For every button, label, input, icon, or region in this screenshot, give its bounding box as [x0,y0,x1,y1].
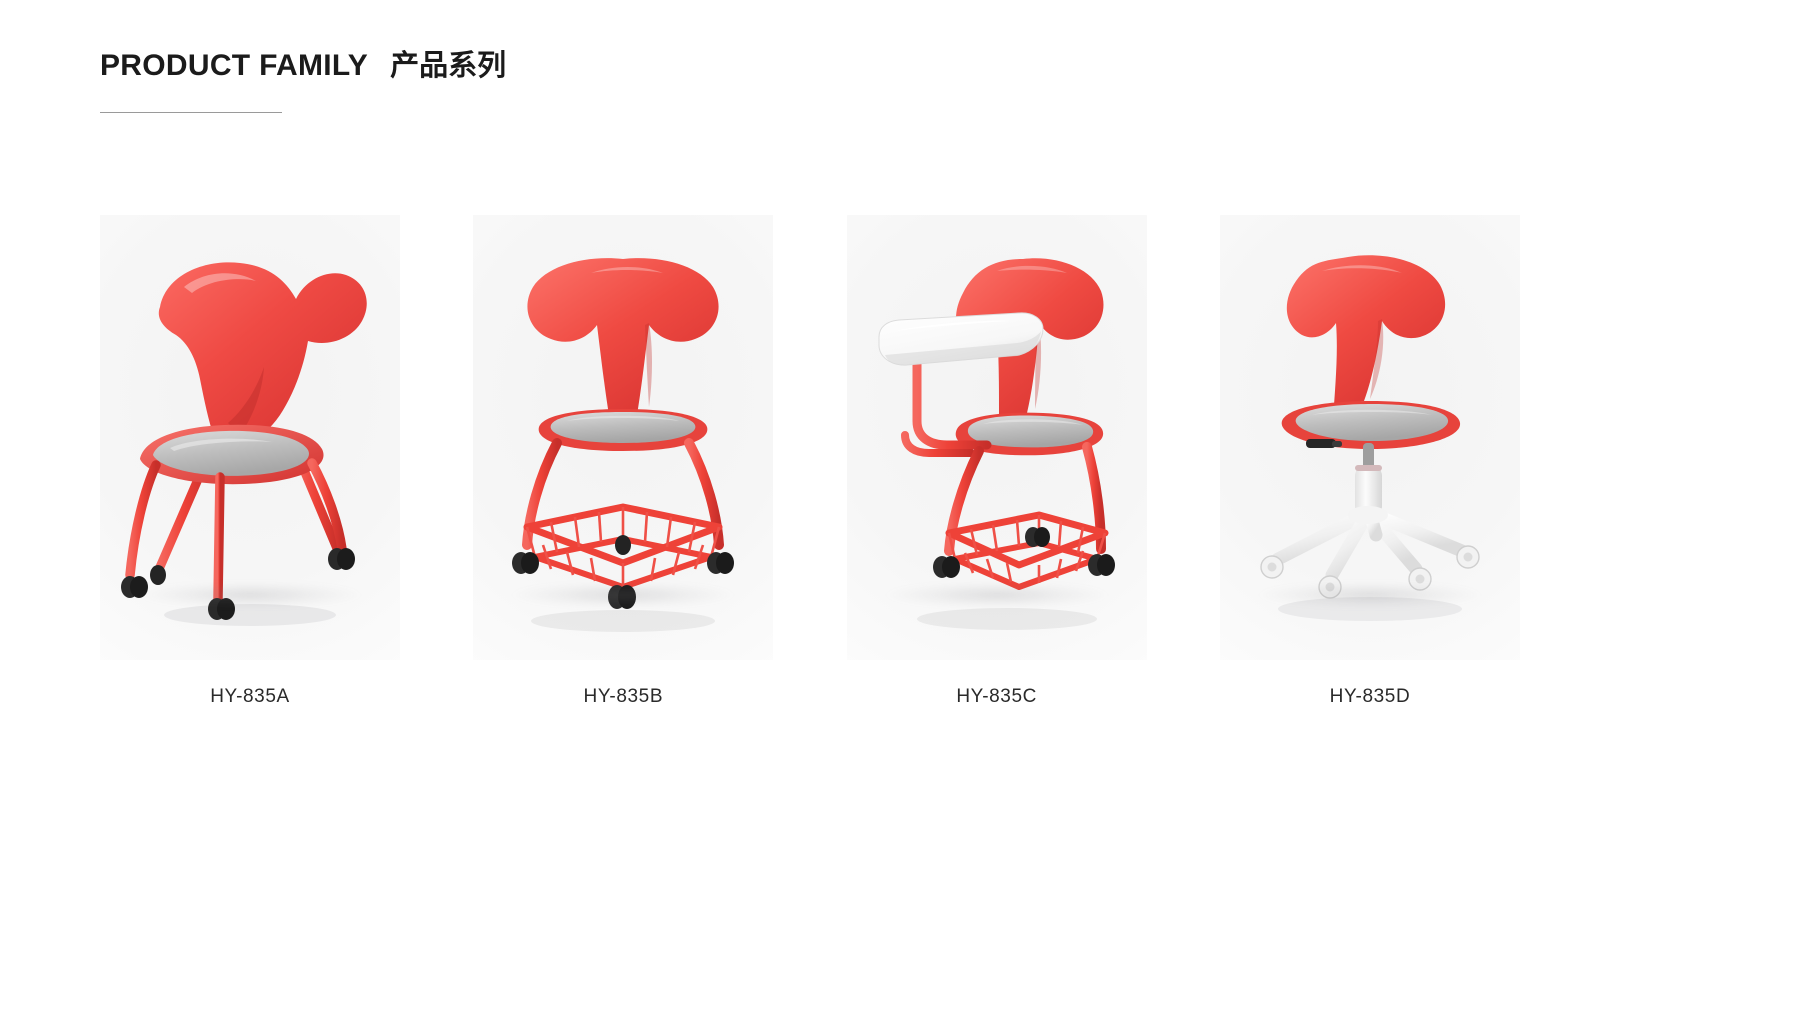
caster-wheel [933,556,960,578]
product-photo-hy-835c[interactable] [847,215,1147,660]
chair-svg-b [473,215,773,660]
storage-basket-c [949,515,1105,587]
product-card-hy-835c[interactable]: HY-835C [847,215,1147,708]
caster-wheel [1319,576,1341,598]
caster-wheel [1457,546,1479,568]
product-label-hy-835c: HY-835C [956,686,1037,708]
product-family-page: PRODUCT FAMILY 产品系列 [0,0,1800,1013]
product-label-hy-835a: HY-835A [210,686,290,708]
caster-wheel [1261,556,1283,578]
gas-cylinder-d [1355,443,1382,517]
header-title-row: PRODUCT FAMILY 产品系列 [100,42,1000,84]
caster-wheel [1025,527,1050,547]
caster-wheel [328,548,355,570]
chair-illustration-a [100,215,400,660]
product-card-hy-835a[interactable]: HY-835A [100,215,400,708]
caster-wheel [1088,554,1115,576]
chair-illustration-d [1220,215,1520,660]
product-card-hy-835d[interactable]: HY-835D [1220,215,1520,708]
caster-wheel [707,552,734,574]
caster-wheel [208,598,235,620]
page-header: PRODUCT FAMILY 产品系列 [100,42,1000,113]
chair-svg-c [847,215,1147,660]
chair-backrest-a [159,262,367,437]
caster-wheel [615,535,631,555]
chair-backrest-b [528,258,719,415]
product-photo-hy-835d[interactable] [1220,215,1520,660]
chair-svg-d [1220,215,1520,660]
page-title-cn: 产品系列 [390,42,506,84]
product-grid: HY-835A [100,215,1520,708]
caster-wheel [1409,568,1431,590]
chair-backrest-d [1287,255,1445,405]
chair-seat-a [140,425,324,485]
caster-wheel [608,585,636,609]
five-star-base-d [1278,506,1462,575]
product-label-hy-835b: HY-835B [584,686,664,708]
product-label-hy-835d: HY-835D [1330,686,1411,708]
caster-wheel [150,565,166,585]
chair-svg-a [100,215,400,660]
caster-wheel [512,552,539,574]
chair-illustration-b [473,215,773,660]
page-title-en: PRODUCT FAMILY [100,49,368,83]
chair-seat-b [539,409,708,451]
caster-wheel [121,576,148,598]
product-card-hy-835b[interactable]: HY-835B [473,215,773,708]
product-photo-hy-835a[interactable] [100,215,400,660]
header-divider [100,112,282,113]
chair-illustration-c [847,215,1147,660]
product-photo-hy-835b[interactable] [473,215,773,660]
